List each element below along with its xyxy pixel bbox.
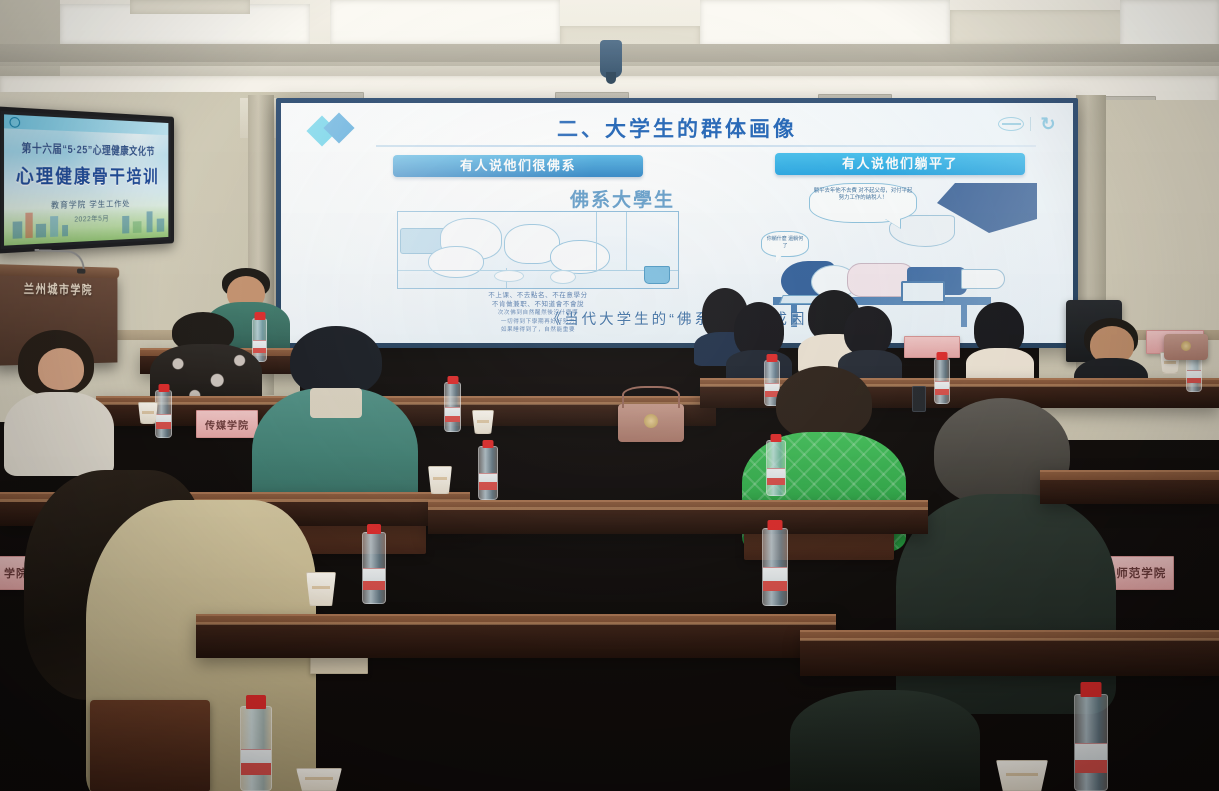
water-bottle (444, 382, 461, 432)
water-bottle (1074, 694, 1108, 791)
audience-person-foreground (790, 690, 980, 791)
circle-logo-icon (9, 117, 20, 128)
water-bottle (478, 446, 498, 500)
paper-cup (428, 466, 452, 494)
water-bottle (766, 440, 786, 496)
paper-cup (996, 760, 1048, 791)
side-led-display[interactable]: 第十六届“5·25”心理健康文化节 心理健康骨干培训 教育学院 学生工作处 20… (0, 106, 174, 253)
paper-cup (472, 410, 494, 434)
slide-label-right: 有人说他们躺平了 (775, 153, 1025, 175)
monitor-graphic (901, 281, 945, 303)
institution-name: 兰州城市学院 (4, 280, 110, 299)
speech-bubble-large: 躺平去年他不去費 对不起父母，对付平起 努力工作的納稅人！ (809, 183, 917, 223)
table-nameplate: 传媒学院 (196, 410, 258, 438)
audience-desk-row (428, 500, 928, 534)
audience-desk-row (1040, 470, 1219, 504)
chair-back (90, 700, 210, 791)
slide-corner-logos: ↻ (998, 115, 1059, 133)
ceiling-projector-icon (600, 40, 622, 78)
left-cartoon-title: 佛系大學生 (570, 185, 675, 212)
water-bottle (362, 532, 386, 604)
water-bottle (240, 706, 272, 791)
slide-label-left: 有人说他们很佛系 (393, 155, 643, 177)
handbag (1164, 334, 1208, 360)
swirl-logo-icon: ↻ (1037, 115, 1059, 133)
audience-person (726, 302, 792, 376)
paper-cup (306, 572, 336, 606)
slide-title: 二、大学生的群体画像 (281, 113, 1073, 143)
audience-person (4, 330, 114, 460)
side-screen-main-title: 心理健康骨干培训 (16, 159, 159, 188)
conference-room-scene: 第十六届“5·25”心理健康文化节 心理健康骨干培训 教育学院 学生工作处 20… (0, 0, 1219, 791)
display-top-strip (4, 114, 168, 135)
foreground-desk (800, 630, 1219, 676)
paper-cup (138, 402, 158, 424)
handbag (618, 404, 684, 442)
presentation-slide[interactable]: 二、大学生的群体画像 ↻ 有人说他们很佛系 有人说他们躺平了 佛系大學生 (281, 103, 1073, 343)
foreground-desk (196, 614, 836, 658)
paper-cup (296, 768, 342, 791)
table-nameplate (904, 336, 960, 358)
water-bottle (762, 528, 788, 606)
audience-person (966, 302, 1034, 378)
projection-screen-frame: 二、大学生的群体画像 ↻ 有人说他们很佛系 有人说他们躺平了 佛系大學生 (276, 98, 1078, 348)
city-skyline-graphic (4, 205, 168, 245)
title-divider (376, 145, 1036, 147)
side-screen-festival-title: 第十六届“5·25”心理健康文化节 (21, 139, 154, 159)
oval-logo-icon (998, 117, 1024, 131)
water-bottle (155, 390, 172, 438)
